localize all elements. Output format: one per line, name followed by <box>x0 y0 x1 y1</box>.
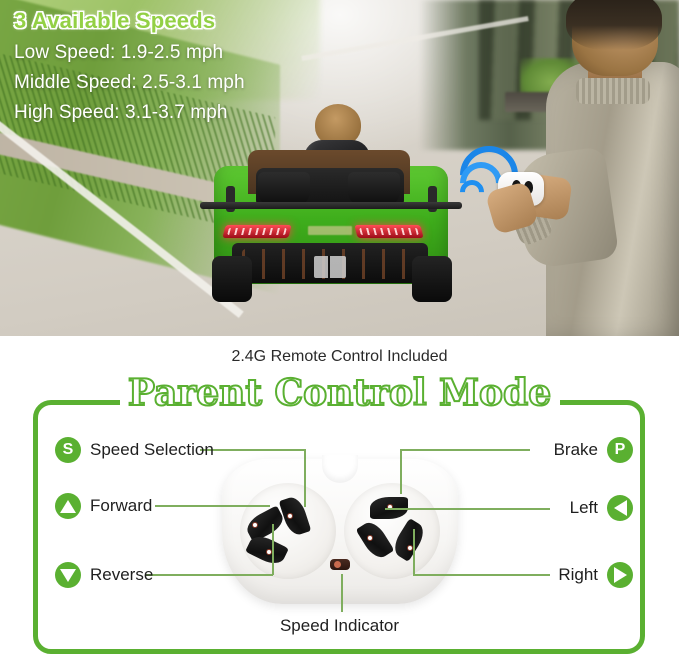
label-right[interactable]: Right <box>558 562 633 588</box>
car-exhaust <box>314 256 346 278</box>
speed-line-low: Low Speed: 1.9-2.5 mph <box>14 42 414 64</box>
speed-indicator-led-glow <box>334 561 341 568</box>
car-wheel-left <box>212 256 252 302</box>
left-button[interactable] <box>356 518 395 562</box>
left-button-dot <box>367 535 373 541</box>
taillight-leds-right <box>359 228 419 235</box>
speeds-title: 3 Available Speeds <box>14 8 414 34</box>
connector-speed-indicator-v <box>341 574 343 612</box>
connector-reverse-h <box>146 574 273 576</box>
triangle-left-badge-icon <box>607 495 633 521</box>
right-button[interactable] <box>390 518 429 562</box>
connector-forward-h <box>155 505 270 507</box>
remote-top-notch <box>322 455 358 483</box>
speed-indicator-led <box>330 559 350 570</box>
label-right-text: Right <box>558 565 598 585</box>
letter-p-badge-icon: P <box>607 437 633 463</box>
taillight-left <box>222 225 291 238</box>
badge-letter-p: P <box>615 442 626 458</box>
connector-left-h <box>385 508 550 510</box>
parent-control-section: 2.4G Remote Control Included Parent Cont… <box>0 336 679 669</box>
parent-control-mode-title: Parent Control Mode <box>0 372 679 414</box>
label-speed-selection-text: Speed Selection <box>90 440 214 460</box>
triangle-left-glyph <box>614 500 627 516</box>
triangle-up-badge-icon <box>55 493 81 519</box>
triangle-down-glyph <box>60 569 76 582</box>
label-forward[interactable]: Forward <box>55 493 152 519</box>
triangle-up-glyph <box>60 500 76 513</box>
speed-selection-button[interactable] <box>279 495 312 538</box>
parent-collar <box>576 78 650 104</box>
taillight-right <box>354 225 423 238</box>
taillight-leds-left <box>227 228 287 235</box>
speed-line-high: High Speed: 3.1-3.7 mph <box>14 102 414 124</box>
speed-selection-button-dot <box>287 513 293 519</box>
label-speed-selection[interactable]: S Speed Selection <box>55 437 214 463</box>
parent-hair <box>566 0 662 50</box>
connector-right-v <box>413 529 415 575</box>
remote-included-caption: 2.4G Remote Control Included <box>0 348 679 366</box>
badge-letter-s: S <box>63 442 74 458</box>
remote-left-pad <box>240 483 336 579</box>
remote-control-illustration <box>222 459 458 604</box>
label-left-text: Left <box>570 498 598 518</box>
lamborghini-badge <box>308 226 352 235</box>
remote-right-pad <box>344 483 440 579</box>
speed-line-middle: Middle Speed: 2.5-3.1 mph <box>14 72 414 94</box>
car-wheel-right <box>412 256 452 302</box>
label-speed-indicator[interactable]: Speed Indicator <box>0 616 679 636</box>
label-reverse-text: Reverse <box>90 565 153 585</box>
letter-s-badge-icon: S <box>55 437 81 463</box>
triangle-right-badge-icon <box>607 562 633 588</box>
connector-reverse-v <box>272 524 274 575</box>
connector-speed-selection-h <box>200 449 305 451</box>
car-seat-left <box>258 172 310 206</box>
car-seat-right <box>348 172 400 206</box>
label-brake-text: Brake <box>554 440 598 460</box>
label-brake[interactable]: P Brake <box>554 437 633 463</box>
product-photo: 3 Available Speeds Low Speed: 1.9-2.5 mp… <box>0 0 679 336</box>
label-left[interactable]: Left <box>570 495 633 521</box>
forward-button-dot <box>252 522 258 528</box>
label-reverse[interactable]: Reverse <box>55 562 153 588</box>
triangle-down-badge-icon <box>55 562 81 588</box>
connector-speed-selection-v <box>304 449 306 507</box>
connector-brake-v <box>400 449 402 494</box>
connector-brake-h <box>400 449 530 451</box>
car-rear-wing <box>200 202 462 209</box>
connector-right-h <box>413 574 550 576</box>
speeds-overlay: 3 Available Speeds Low Speed: 1.9-2.5 mp… <box>14 8 414 132</box>
label-forward-text: Forward <box>90 496 152 516</box>
ride-on-car <box>196 128 466 318</box>
triangle-right-glyph <box>614 567 627 583</box>
